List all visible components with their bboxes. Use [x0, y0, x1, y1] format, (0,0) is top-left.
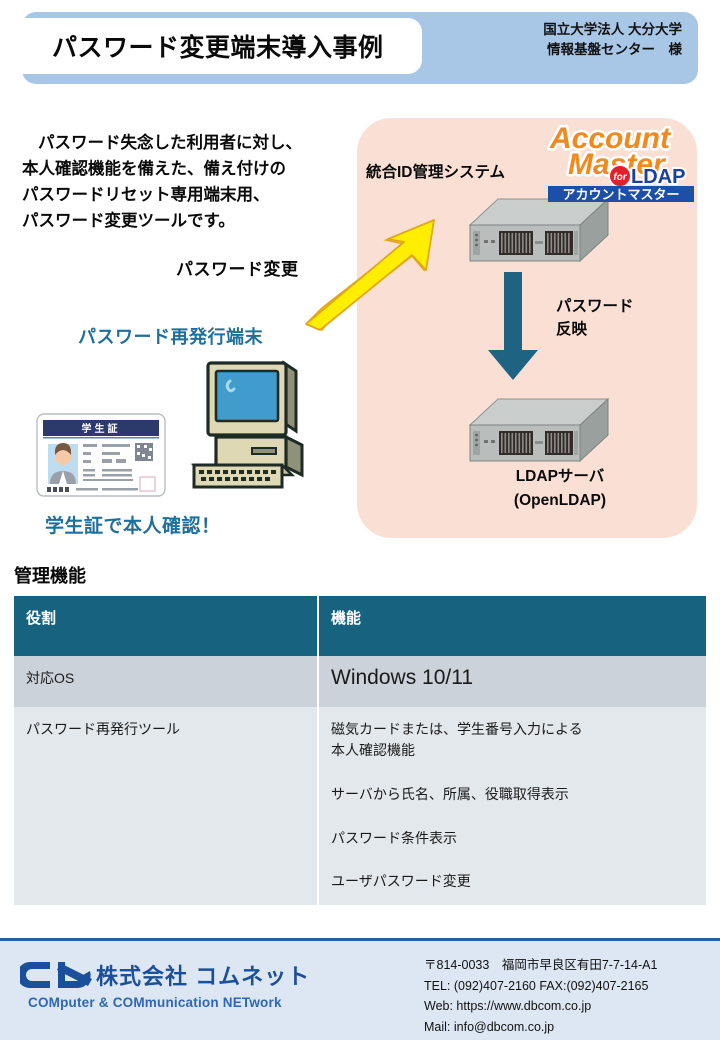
- label-password-apply-line2: 反映: [556, 318, 634, 341]
- student-id-card-icon: 学生証: [36, 413, 166, 502]
- feature-line-1a: 磁気カードまたは、学生番号入力による 本人確認機能: [331, 719, 694, 762]
- feature-item: ユーザパスワード変更: [331, 871, 694, 893]
- contact-address: 〒814-0033 福岡市早良区有田7-7-14-A1: [424, 955, 657, 976]
- table-row: 対応OS Windows 10/11: [14, 656, 706, 707]
- label-id-verification: 学生証で本人確認！: [45, 511, 221, 538]
- label-password-apply-line1: パスワード: [556, 295, 634, 318]
- header-title-plate: パスワード変更端末導入事例: [0, 18, 422, 74]
- description-line-3: パスワードリセット専用端末用、: [22, 182, 352, 208]
- cell-role-os: 対応OS: [14, 656, 318, 707]
- table-column-header-function: 機能: [318, 596, 706, 656]
- desktop-computer-icon: [186, 353, 314, 502]
- contact-mail[interactable]: Mail: info@dbcom.co.jp: [424, 1017, 657, 1038]
- contact-info: 〒814-0033 福岡市早良区有田7-7-14-A1 TEL: (092)40…: [424, 955, 657, 1038]
- label-ldap-line2: (OpenLDAP): [470, 489, 650, 513]
- client-name: 国立大学法人 大分大学 情報基盤センター 様: [543, 20, 682, 61]
- arrow-down-icon: [482, 272, 544, 389]
- cell-role-tool: パスワード再発行ツール: [14, 707, 318, 905]
- label-password-apply: パスワード 反映: [556, 295, 634, 342]
- cell-function-os: Windows 10/11: [318, 656, 706, 707]
- label-reissue-terminal: パスワード再発行端末: [78, 323, 263, 349]
- page-title: パスワード変更端末導入事例: [52, 28, 384, 64]
- server-ldap-icon: [440, 395, 610, 478]
- table-header-row: 役割 機能: [14, 596, 706, 656]
- page-header: パスワード変更端末導入事例 国立大学法人 大分大学 情報基盤センター 様: [0, 0, 720, 100]
- arrow-up-right-icon: [300, 212, 450, 337]
- logo-banner-text: アカウントマスター: [562, 187, 679, 202]
- cell-function-tool: 磁気カードまたは、学生番号入力による 本人確認機能 サーバから氏名、所属、役職取…: [318, 707, 706, 905]
- table-section-title: 管理機能: [14, 562, 86, 588]
- contact-phone: TEL: (092)407-2160 FAX:(092)407-2165: [424, 976, 657, 997]
- logo-ldap-text: LDAP: [631, 166, 685, 188]
- client-name-line1: 国立大学法人 大分大学: [543, 20, 682, 40]
- feature-item: 磁気カードまたは、学生番号入力による 本人確認機能: [331, 719, 694, 762]
- company-tagline: COMputer & COMmunication NETwork: [28, 995, 282, 1010]
- slide-page: パスワード変更端末導入事例 国立大学法人 大分大学 情報基盤センター 様 パスワ…: [0, 0, 720, 1040]
- account-master-logo: Account Account Master Master for LDAP L…: [546, 118, 696, 209]
- client-name-line2: 情報基盤センター 様: [543, 40, 682, 60]
- label-id-management-system: 統合ID管理システム: [366, 160, 505, 182]
- svg-text:学生証: 学生証: [82, 422, 121, 435]
- feature-item: サーバから氏名、所属、役職取得表示: [331, 784, 694, 806]
- page-footer: 株式会社 コムネット COMputer & COMmunication NETw…: [0, 941, 720, 1040]
- label-password-change: パスワード変更: [176, 255, 299, 280]
- table-row: パスワード再発行ツール 磁気カードまたは、学生番号入力による 本人確認機能 サー…: [14, 707, 706, 905]
- company-name: 株式会社 コムネット: [96, 959, 310, 991]
- description-line-1: パスワード失念した利用者に対し、: [22, 130, 352, 156]
- functions-table: 役割 機能 対応OS Windows 10/11 パスワード再発行ツール 磁気カ…: [14, 596, 706, 905]
- feature-item: パスワード条件表示: [331, 828, 694, 850]
- table-column-header-role: 役割: [14, 596, 318, 656]
- description-line-2: 本人確認機能を備えた、備え付けの: [22, 156, 352, 182]
- logo-for-text: for: [613, 172, 627, 183]
- comnet-logo-icon: [20, 959, 98, 998]
- contact-web[interactable]: Web: https://www.dbcom.co.jp: [424, 996, 657, 1017]
- architecture-diagram: パスワード失念した利用者に対し、 本人確認機能を備えた、備え付けの パスワードリ…: [0, 100, 720, 555]
